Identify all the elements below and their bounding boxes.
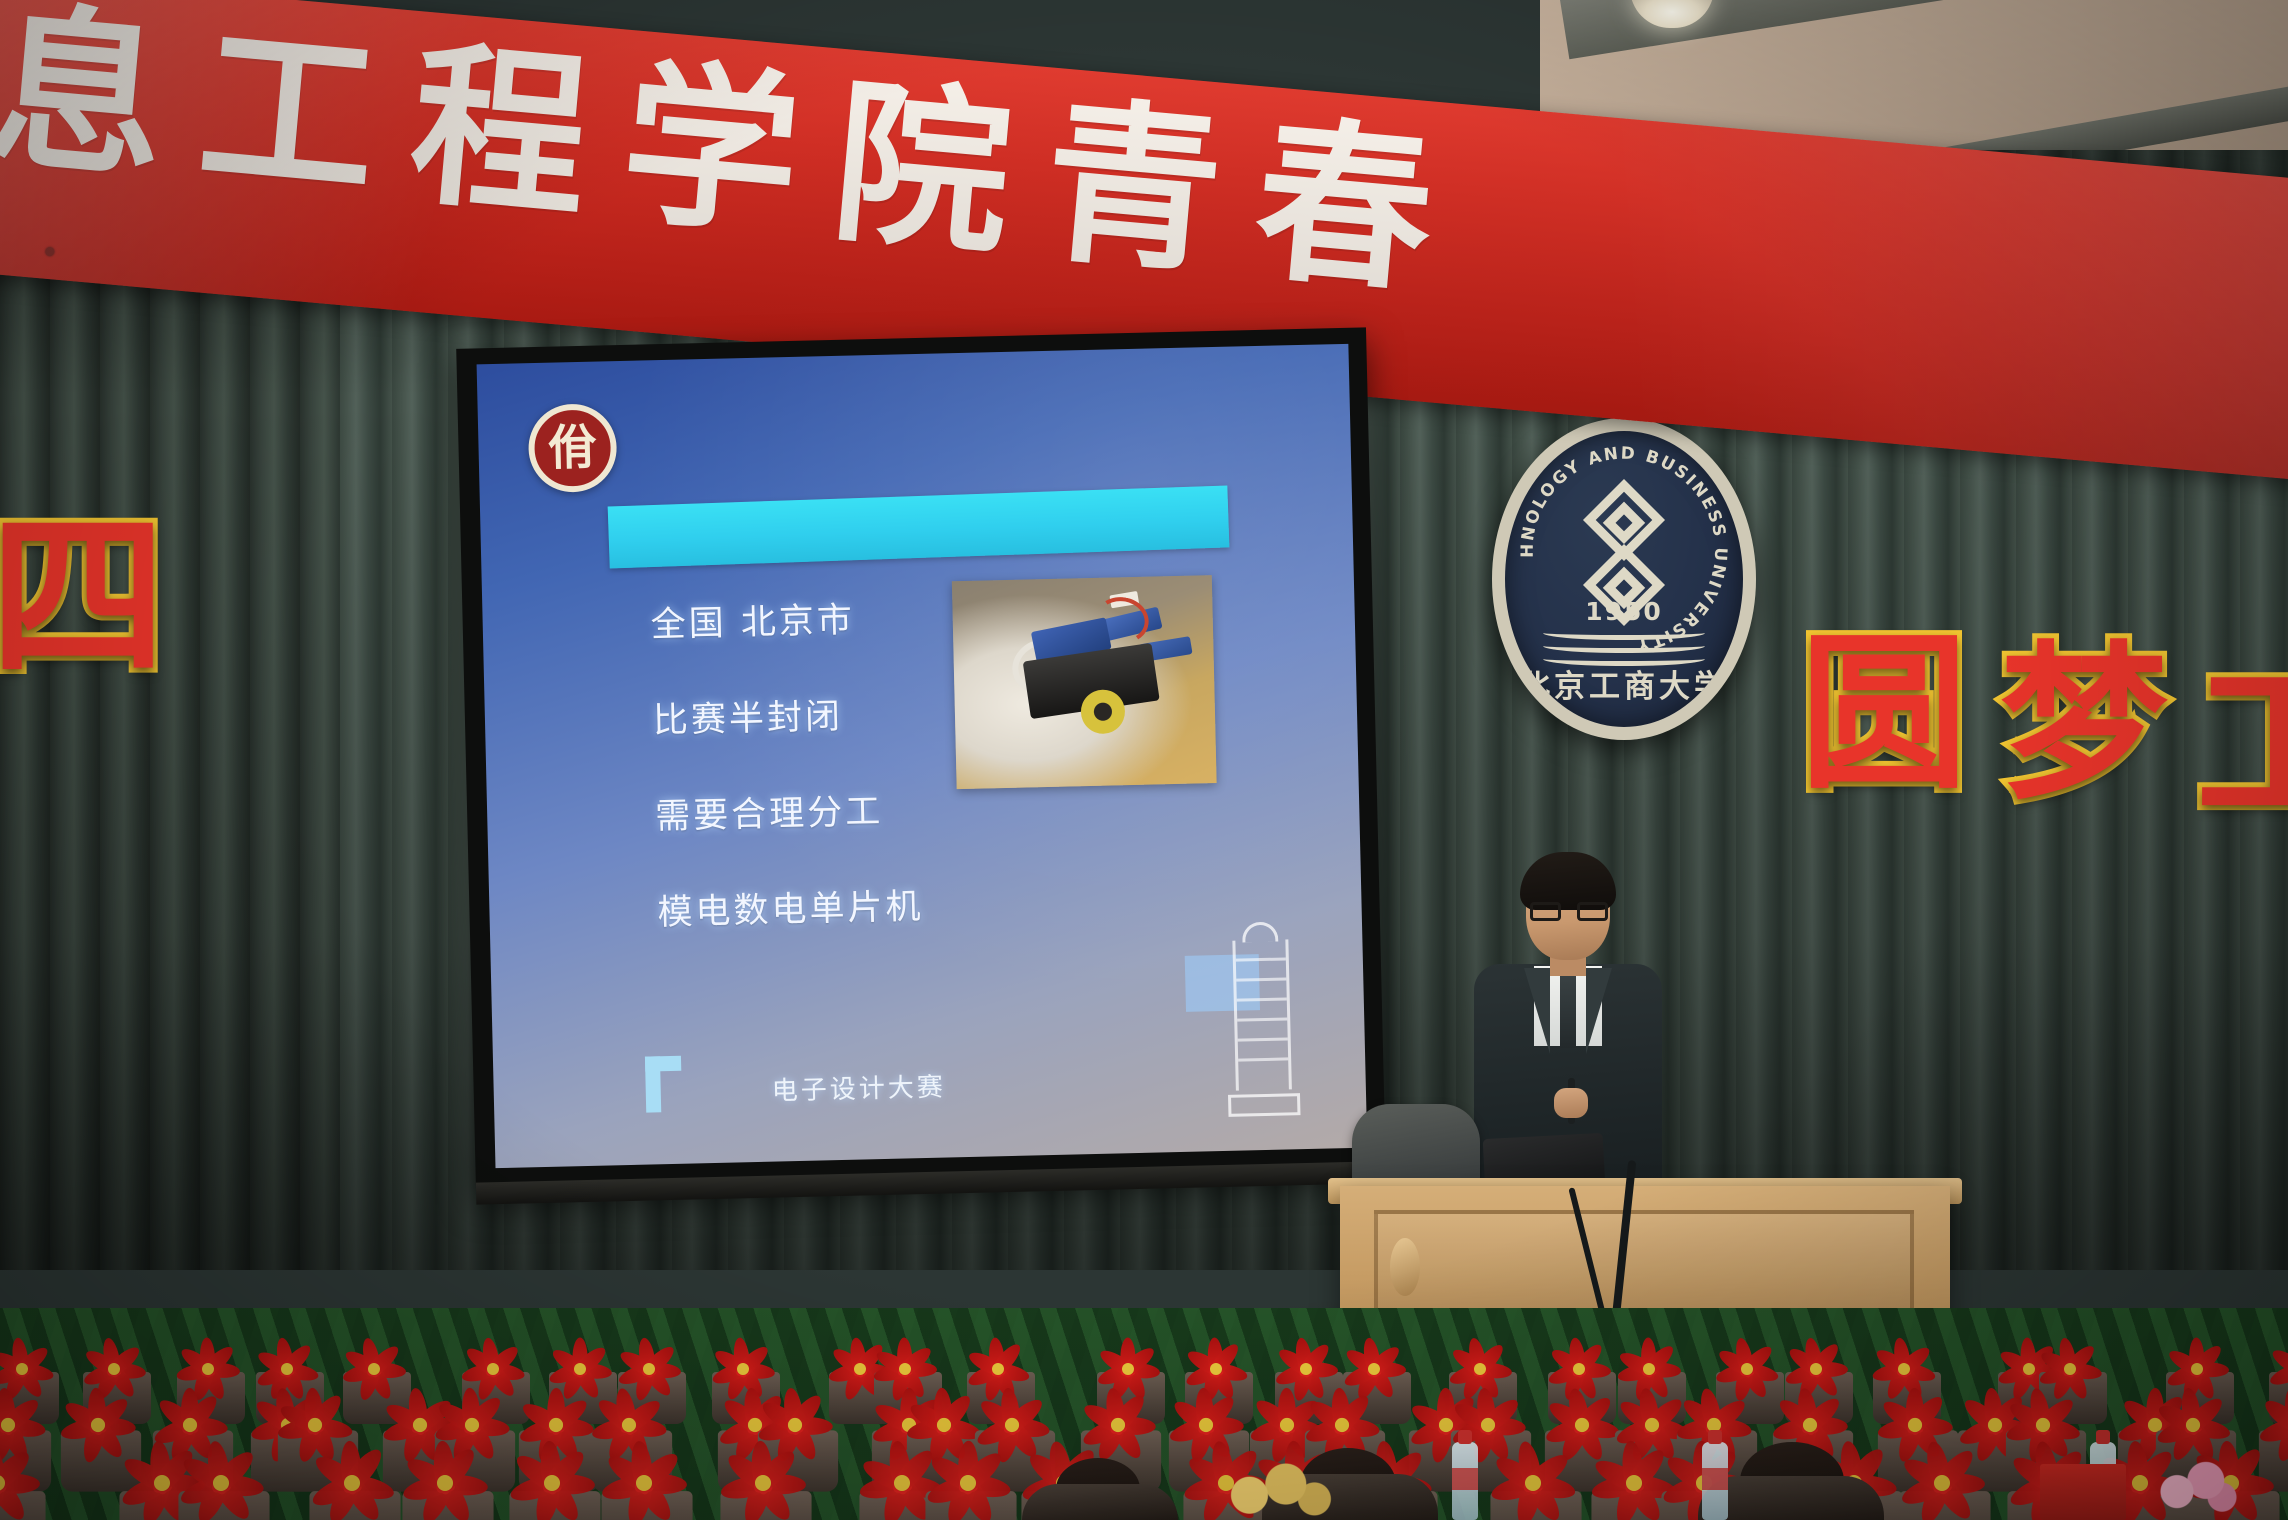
poinsettia-flower <box>171 1433 270 1520</box>
slide-tower-graphic <box>1224 921 1301 1123</box>
water-bottle <box>1452 1442 1478 1520</box>
poinsettia-flower <box>302 1433 401 1520</box>
presenter-hand <box>1554 1088 1588 1118</box>
presenter-tie <box>1560 974 1576 1048</box>
slide-bullet: 全国 北京市 <box>650 589 981 648</box>
audience-shoulders <box>1022 1484 1178 1520</box>
emblem-year: 1950 <box>1505 597 1743 626</box>
poinsettia-flower <box>395 1433 494 1520</box>
poinsettia-flower <box>502 1433 601 1520</box>
foam-char-3: 梦 <box>2000 640 2168 808</box>
poinsettia-flower <box>918 1433 1017 1520</box>
foam-char-4: 工 <box>2196 660 2288 828</box>
poinsettia-flower <box>0 1433 47 1520</box>
banner-grommet <box>45 247 55 257</box>
slide-bullet: 模电数电单片机 <box>657 876 988 935</box>
slide-bullet-list: 全国 北京市 比赛半封闭 需要合理分工 模电数电单片机 <box>650 589 989 981</box>
slide-title-bar <box>608 485 1230 568</box>
foam-char-2: 圆 <box>1800 630 1968 798</box>
jacket-lapel-right <box>1586 968 1612 1054</box>
photo-scene: 四 圆 梦 工 BEIJING TECHNOLOGY AND BUSINESS … <box>0 0 2288 1520</box>
presentation-slide: 佾 全国 北京市 比赛半封闭 需要合理分工 模电数电单片机 <box>477 344 1368 1168</box>
slide-caption: 电子设计大赛 <box>771 1067 946 1108</box>
poinsettia-flower <box>713 1433 812 1520</box>
foam-char-1: 四 <box>0 510 166 686</box>
tower-base <box>1228 1093 1300 1117</box>
slide-corner-bracket <box>645 1056 682 1113</box>
water-bottle <box>1702 1442 1728 1520</box>
slide-bullet: 需要合理分工 <box>655 781 986 840</box>
pink-flowers <box>2150 1458 2240 1514</box>
banner-text: 息工程学院青春 <box>0 0 1476 307</box>
red-box <box>2040 1464 2126 1520</box>
tower-body <box>1232 939 1292 1090</box>
slide-bullet: 比赛半封闭 <box>652 685 983 744</box>
slide-robot-car-photo <box>952 575 1217 789</box>
poinsettia-flower <box>1892 1433 1991 1520</box>
podium-side-detail <box>1390 1238 1420 1296</box>
slide-seal-glyph: 佾 <box>548 424 597 473</box>
projection-screen: 佾 全国 北京市 比赛半封闭 需要合理分工 模电数电单片机 <box>456 327 1386 1190</box>
university-emblem: BEIJING TECHNOLOGY AND BUSINESS UNIVERSI… <box>1492 418 1756 740</box>
jacket-lapel-left <box>1524 968 1550 1054</box>
emblem-chinese-name: 北京工商大学 <box>1505 661 1743 706</box>
glasses-icon <box>1530 902 1608 922</box>
poinsettia-flower <box>595 1433 694 1520</box>
robot-car-wheel <box>1080 689 1125 734</box>
slide-seal-logo: 佾 <box>528 403 618 493</box>
poinsettia-flower <box>1484 1433 1583 1520</box>
yellow-flowers <box>1222 1458 1332 1520</box>
